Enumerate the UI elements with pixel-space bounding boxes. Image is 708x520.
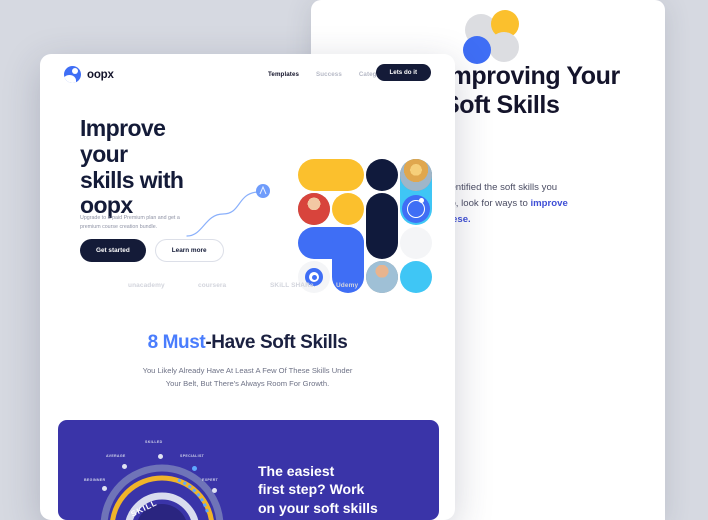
nav-link-success[interactable]: Success xyxy=(316,71,342,78)
nav-cta-button[interactable]: Lets do it xyxy=(376,64,432,81)
logo-skillshare: SKiLL SHARe. xyxy=(270,282,316,289)
paragraph-line-1: identified the soft skills you xyxy=(443,182,557,193)
gauge-dot-3 xyxy=(158,454,163,459)
brand-logo[interactable]: oopx xyxy=(64,66,114,83)
logo-udemy: Udemy xyxy=(336,282,358,289)
right-panel-title: Improving Your Soft Skills xyxy=(443,62,653,119)
gauge-label-average: AVERAGE xyxy=(106,454,126,458)
paragraph-bold-improve: improve xyxy=(530,198,567,209)
decorative-circle-cluster xyxy=(461,8,533,64)
hero-paragraph: Upgrade to a paid Premium plan and get a… xyxy=(80,214,200,233)
promo-title-line-3: on your soft skills xyxy=(258,500,378,516)
art-circle-yellow-2 xyxy=(332,193,364,225)
logo-unacademy: unacademy xyxy=(128,282,165,289)
gauge-dot-1 xyxy=(102,486,107,491)
navbar: oopx Templates Success Categories Pricin… xyxy=(40,54,455,96)
gauge-dot-5 xyxy=(212,488,217,493)
avatar-photo-2 xyxy=(298,193,330,225)
soft-skills-promo-card[interactable]: BEGINNER AVERAGE SKILLED SPECIALIST EXPE… xyxy=(58,420,439,520)
screenshot-canvas: Improving Your Soft Skills identified th… xyxy=(0,0,708,520)
section-paragraph-line-1: You Likely Already Have At Least A Few O… xyxy=(143,366,353,375)
gauge-label-expert: EXPERT xyxy=(202,478,218,482)
section-paragraph: You Likely Already Have At Least A Few O… xyxy=(90,364,405,391)
right-panel-paragraph: identified the soft skills you lop, look… xyxy=(443,180,648,227)
section-heading-accent: 8 Must xyxy=(148,332,206,353)
logo-coursera: coursera xyxy=(198,282,226,289)
skill-gauge-graphic: BEGINNER AVERAGE SKILLED SPECIALIST EXPE… xyxy=(82,430,242,520)
art-pill-navy xyxy=(366,193,398,259)
hero-heading-line-3: skills with xyxy=(80,167,183,193)
brand-name: oopx xyxy=(87,69,114,81)
partner-logos-strip: unacademy coursera SKiLL SHARe. Udemy xyxy=(40,282,455,306)
avatar-photo-1 xyxy=(400,159,432,191)
paragraph-line-2: lop, look for ways to xyxy=(443,198,530,209)
squiggle-arrow-icon xyxy=(185,184,285,239)
get-started-button[interactable]: Get started xyxy=(80,239,146,262)
art-circle-blue-ring xyxy=(402,195,430,223)
section-paragraph-line-2: Your Belt, But There's Always Room For G… xyxy=(166,379,330,388)
main-landing-page-card: oopx Templates Success Categories Pricin… xyxy=(40,54,455,520)
gauge-label-skilled: SKILLED xyxy=(145,440,162,444)
gauge-label-beginner: BEGINNER xyxy=(84,478,105,482)
hero-heading-line-2: your xyxy=(80,141,127,167)
decor-circle-blue xyxy=(463,36,491,64)
decor-circle-gray-2 xyxy=(489,32,519,62)
section-heading: 8 Must-Have Soft Skills xyxy=(40,332,455,354)
oopx-avatar-icon xyxy=(64,66,81,83)
art-circle-white xyxy=(400,227,432,259)
gauge-dot-2 xyxy=(122,464,127,469)
hero-button-group: Get started Learn more xyxy=(80,239,224,262)
gauge-dot-4 xyxy=(192,466,197,471)
learn-more-button[interactable]: Learn more xyxy=(155,239,224,262)
hero-circle-grid xyxy=(298,159,434,294)
promo-card-title: The easiest first step? Work on your sof… xyxy=(258,462,418,517)
promo-title-line-1: The easiest xyxy=(258,463,334,479)
promo-title-line-2: first step? Work xyxy=(258,481,364,497)
gauge-label-specialist: SPECIALIST xyxy=(180,454,204,458)
section-heading-rest: -Have Soft Skills xyxy=(205,332,347,353)
art-circle-navy-1 xyxy=(366,159,398,191)
art-pill-yellow-top xyxy=(298,159,364,191)
nav-link-templates[interactable]: Templates xyxy=(268,71,299,78)
hero-heading-line-1: Improve xyxy=(80,115,165,141)
